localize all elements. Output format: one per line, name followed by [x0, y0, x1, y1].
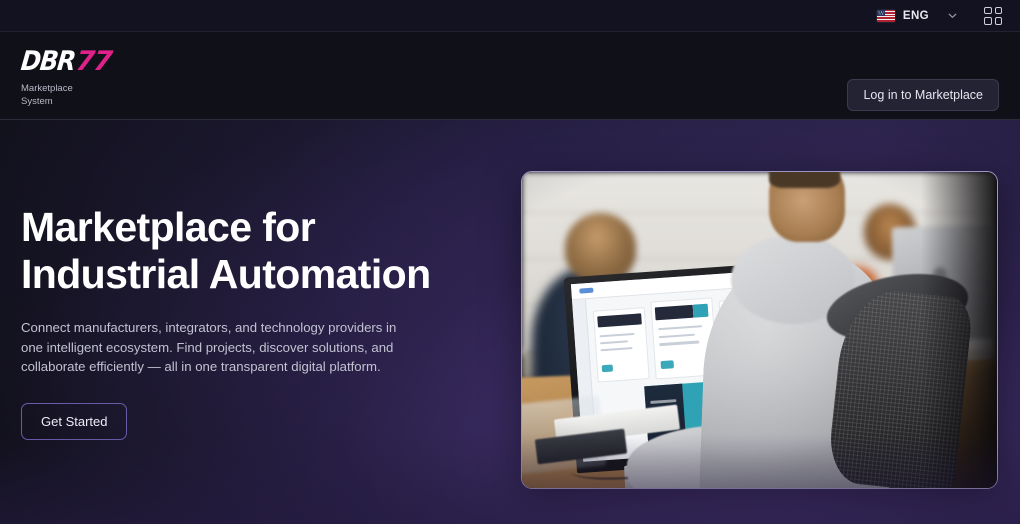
- logo-subtitle: Marketplace System: [21, 82, 111, 108]
- logo-wordmark: DBR 77: [21, 48, 111, 75]
- grid-cell: [995, 7, 1003, 15]
- office-workspace-photo: [522, 172, 997, 488]
- site-header: DBR 77 Marketplace System Log in to Mark…: [0, 32, 1020, 120]
- grid-cell: [984, 17, 992, 25]
- brand-logo[interactable]: DBR 77 Marketplace System: [21, 48, 111, 108]
- top-utility-bar: ENG: [0, 0, 1020, 32]
- logo-main-text: DBR: [20, 48, 77, 75]
- hero-text-column: Marketplace for Industrial Automation Co…: [21, 204, 481, 440]
- page-title: Marketplace for Industrial Automation: [21, 204, 461, 298]
- grid-cell: [984, 7, 992, 15]
- photo-right-shadow: [921, 172, 997, 488]
- grid-apps-icon[interactable]: [984, 7, 1002, 25]
- login-to-marketplace-button[interactable]: Log in to Marketplace: [847, 79, 999, 111]
- chevron-down-icon[interactable]: [947, 10, 958, 21]
- grid-cell: [995, 17, 1003, 25]
- language-label: ENG: [903, 10, 929, 22]
- photo-background-person-left-head: [565, 213, 636, 283]
- logo-subtitle-line2: System: [21, 95, 111, 108]
- get-started-button[interactable]: Get Started: [21, 403, 127, 440]
- hero-section: Marketplace for Industrial Automation Co…: [0, 120, 1020, 524]
- hero-subtext: Connect manufacturers, integrators, and …: [21, 318, 401, 377]
- language-selector[interactable]: ENG: [873, 8, 962, 24]
- hero-image-frame: [521, 171, 998, 489]
- logo-accent-text: 77: [74, 48, 112, 75]
- landing-page: ENG DBR 77 Marketplace System: [0, 0, 1020, 524]
- logo-subtitle-line1: Marketplace: [21, 82, 111, 95]
- us-flag-icon: [877, 10, 895, 22]
- photo-foreground-person-hair: [769, 172, 840, 188]
- photo-screen-card: [592, 308, 649, 383]
